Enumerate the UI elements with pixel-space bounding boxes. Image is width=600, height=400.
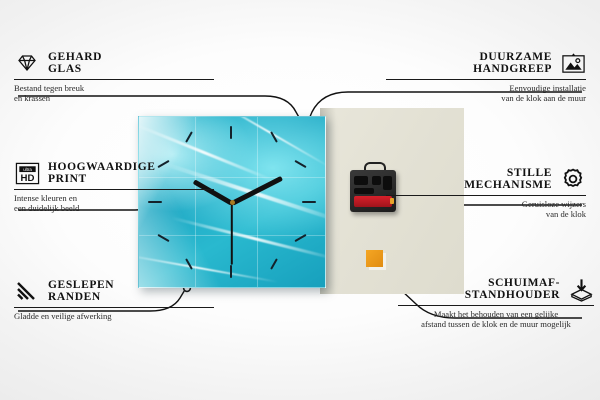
- feature-title: SCHUIMAF- STANDHOUDER: [465, 277, 560, 302]
- feature-title: GESLEPEN RANDEN: [48, 279, 214, 304]
- svg-text:ultra: ultra: [23, 167, 32, 172]
- feature-hoogwaardige-print: ultra HD HOOGWAARDIGE PRINT Intense kleu…: [14, 160, 214, 213]
- feature-duurzame-handgreep: DUURZAME HANDGREEP Eenvoudige installati…: [386, 50, 586, 103]
- clock-hub: [230, 200, 235, 205]
- feature-geslepen-randen: GESLEPEN RANDEN Gladde en veilige afwerk…: [14, 278, 214, 321]
- divider: [398, 305, 594, 306]
- feature-description: Intense kleuren en een duidelijk beeld: [14, 193, 214, 213]
- infographic-canvas: GEHARD GLAS Bestand tegen breuk en krass…: [0, 0, 600, 400]
- divider: [14, 307, 214, 308]
- feature-description: Geruisloze wijzers van de klok: [386, 199, 586, 219]
- feature-description: Maakt het behouden van een gelijke afsta…: [398, 309, 594, 329]
- divider: [386, 195, 586, 196]
- divider: [14, 189, 214, 190]
- gear-icon: [560, 166, 586, 192]
- diamond-icon: [14, 50, 40, 76]
- stamp-down-arrow-icon: [568, 276, 594, 302]
- diagonal-lines-icon: [14, 278, 40, 304]
- feature-schuimafstandhouder: SCHUIMAF- STANDHOUDER Maakt het behouden…: [398, 276, 594, 329]
- svg-text:HD: HD: [20, 173, 34, 184]
- divider: [14, 79, 214, 80]
- divider: [386, 79, 586, 80]
- framed-picture-icon: [560, 50, 586, 76]
- feature-description: Eenvoudige installatie van de klok aan d…: [386, 83, 586, 103]
- feature-stille-mechanisme: STILLE MECHANISME Geruisloze wijzers van…: [386, 166, 586, 219]
- feature-description: Bestand tegen breuk en krassen: [14, 83, 214, 103]
- ultra-hd-icon: ultra HD: [14, 160, 40, 186]
- feature-title: STILLE MECHANISME: [386, 167, 552, 192]
- feature-title: HOOGWAARDIGE PRINT: [48, 161, 214, 186]
- feature-gehard-glas: GEHARD GLAS Bestand tegen breuk en krass…: [14, 50, 214, 103]
- foam-spacer: [366, 250, 383, 267]
- second-hand: [231, 203, 233, 265]
- feature-description: Gladde en veilige afwerking: [14, 311, 214, 321]
- feature-title: DUURZAME HANDGREEP: [386, 51, 552, 76]
- feature-title: GEHARD GLAS: [48, 51, 214, 76]
